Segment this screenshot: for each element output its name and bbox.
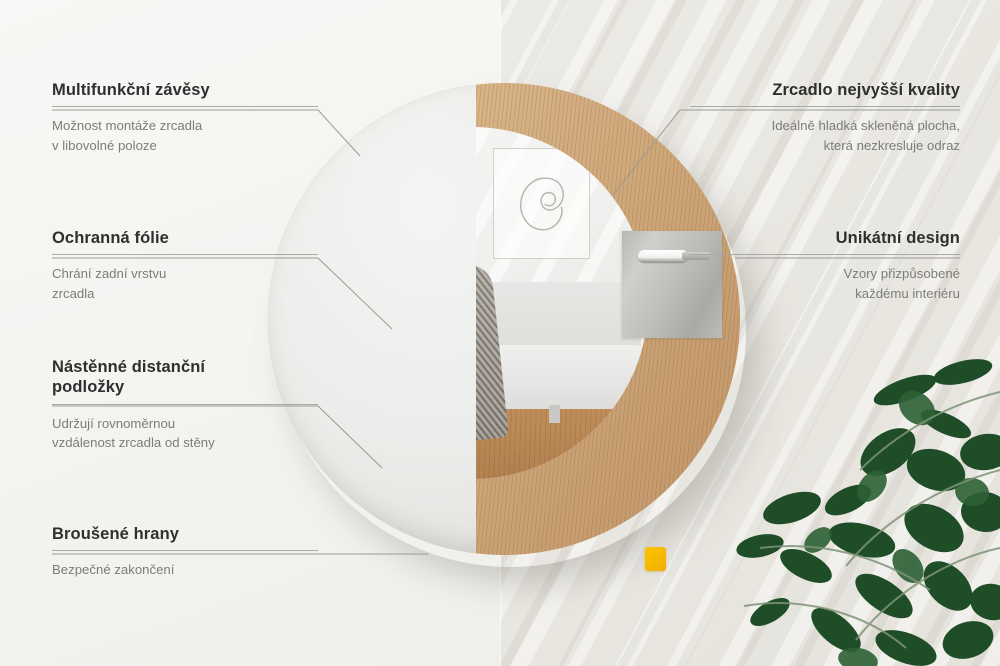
callout-description: Vzory přizpůsobené každému interiéru — [690, 264, 960, 302]
callout-top-quality-mirror: Zrcadlo nejvyšší kvality Ideálně hladká … — [690, 80, 960, 155]
callout-description: Udržují rovnoměrnou vzdálenost zrcadla o… — [52, 414, 318, 452]
callout-description: Možnost montáže zrcadla v libovolné polo… — [52, 116, 318, 154]
reflection-sofa-leg — [549, 405, 560, 423]
callout-description-line1: Možnost montáže zrcadla — [52, 118, 202, 133]
callout-rule — [690, 254, 960, 255]
line-art-icon — [494, 149, 589, 258]
callout-polished-edges: Broušené hrany Bezpečné zakončení — [52, 524, 318, 580]
callout-description-line2: zrcadla — [52, 286, 95, 301]
callout-title: Zrcadlo nejvyšší kvality — [690, 80, 960, 100]
yellow-spacer-pad — [645, 547, 666, 571]
callout-description-line2: každému interiéru — [855, 286, 960, 301]
callout-rule — [52, 106, 318, 107]
callout-description-line1: Chrání zadní vrstvu — [52, 266, 166, 281]
callout-multifunctional-hangers: Multifunkční závěsy Možnost montáže zrca… — [52, 80, 318, 155]
callout-rule — [52, 404, 318, 405]
infographic-canvas: Multifunkční závěsy Možnost montáže zrca… — [0, 0, 1000, 666]
callout-title: Unikátní design — [690, 228, 960, 248]
callout-rule — [690, 106, 960, 107]
callout-protective-film: Ochranná fólie Chrání zadní vrstvu zrcad… — [52, 228, 318, 303]
callout-title-line1: Nástěnné distanční — [52, 358, 205, 376]
callout-wall-spacers: Nástěnné distanční podložky Udržují rovn… — [52, 357, 318, 452]
callout-description-line1: Vzory přizpůsobené — [843, 266, 960, 281]
keyhole-slot-icon — [638, 250, 688, 262]
callout-description-line2: v libovolné poloze — [52, 138, 157, 153]
mirror-product — [264, 83, 744, 563]
callout-title: Nástěnné distanční podložky — [52, 357, 318, 398]
callout-description-line2: která nezkresluje odraz — [824, 138, 960, 153]
callout-description-line2: vzdálenost zrcadla od stěny — [52, 435, 215, 450]
callout-description-line1: Ideálně hladká skleněná plocha, — [772, 118, 960, 133]
callout-rule — [52, 254, 318, 255]
callout-description: Chrání zadní vrstvu zrcadla — [52, 264, 318, 302]
callout-title: Ochranná fólie — [52, 228, 318, 248]
callout-rule — [52, 550, 318, 551]
callout-description: Ideálně hladká skleněná plocha, která ne… — [690, 116, 960, 154]
reflection-poster-frame — [493, 148, 590, 259]
callout-description-line1: Udržují rovnoměrnou — [52, 416, 175, 431]
callout-description-line1: Bezpečné zakončení — [52, 562, 174, 577]
callout-title: Broušené hrany — [52, 524, 318, 544]
callout-unique-design: Unikátní design Vzory přizpůsobené každé… — [690, 228, 960, 303]
callout-title: Multifunkční závěsy — [52, 80, 318, 100]
callout-description: Bezpečné zakončení — [52, 560, 318, 579]
callout-title-line2: podložky — [52, 378, 124, 396]
